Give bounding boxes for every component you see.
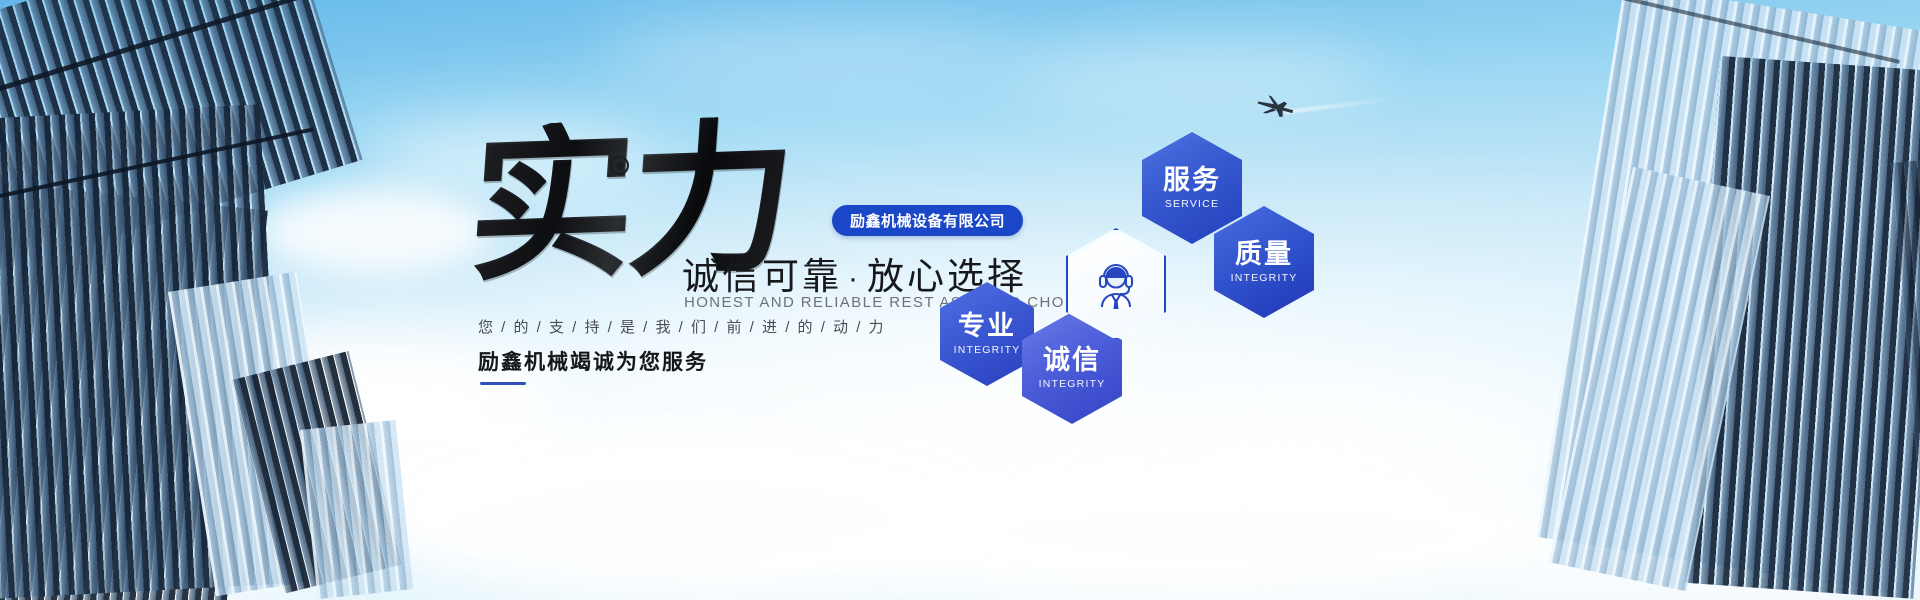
hexagon-cluster: 专业 INTEGRITY 诚信 INTEGRITY <box>1080 100 1510 430</box>
accent-underline <box>480 382 526 385</box>
headline-block: 实力 励鑫机械设备有限公司 诚信可靠·放心选择 HONEST AND RELIA… <box>470 120 1030 420</box>
hexagon-honest-en: INTEGRITY <box>1039 378 1106 390</box>
hexagon-honest-cn: 诚信 <box>1043 346 1101 374</box>
registered-mark-icon <box>610 156 629 175</box>
hexagon-service-en: SERVICE <box>1165 198 1219 210</box>
skyscraper-left-cluster <box>0 0 420 600</box>
skyscraper-right-cluster <box>1440 0 1920 600</box>
hexagon-quality-cn: 质量 <box>1235 240 1293 268</box>
hexagon-pro-en: INTEGRITY <box>954 344 1021 356</box>
slogan-split: 您 / 的 / 支 / 持 / 是 / 我 / 们 / 前 / 进 / 的 / … <box>478 316 886 337</box>
marketing-banner: 实力 励鑫机械设备有限公司 诚信可靠·放心选择 HONEST AND RELIA… <box>0 0 1920 600</box>
slogan-main: 励鑫机械竭诚为您服务 <box>478 346 708 376</box>
tagline-cn-left: 诚信可靠 <box>682 256 842 297</box>
tagline-separator-dot: · <box>842 262 867 295</box>
hexagon-service-cn: 服务 <box>1163 166 1221 194</box>
tagline-cn-right: 放心选择 <box>867 256 1027 297</box>
hexagon-quality-en: INTEGRITY <box>1231 272 1298 284</box>
hexagon-pro-cn: 专业 <box>958 312 1016 340</box>
company-name-badge: 励鑫机械设备有限公司 <box>832 205 1023 236</box>
